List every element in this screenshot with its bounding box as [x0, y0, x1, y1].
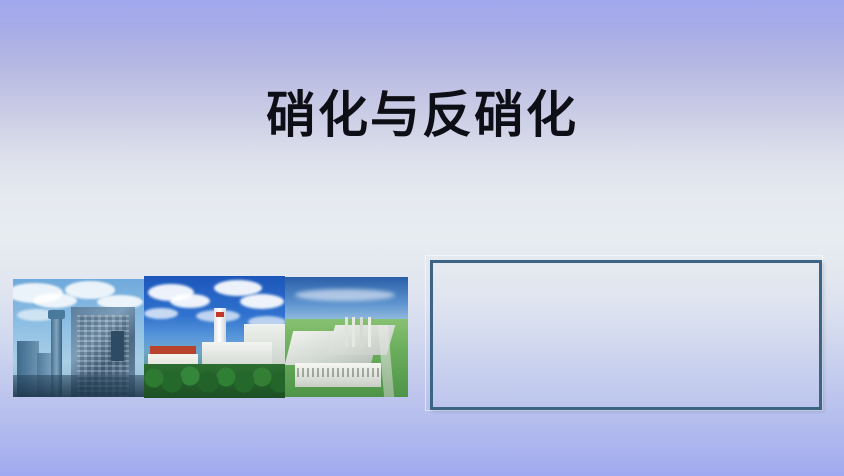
photo-strip: [13, 276, 408, 398]
slide-canvas: 硝化与反硝化: [0, 0, 844, 476]
content-box[interactable]: [430, 260, 822, 410]
photo-aerial-factory: [285, 277, 408, 397]
page-title: 硝化与反硝化: [0, 88, 844, 142]
photo-city-skyline: [13, 279, 144, 397]
photo-industrial-plant: [144, 276, 285, 398]
